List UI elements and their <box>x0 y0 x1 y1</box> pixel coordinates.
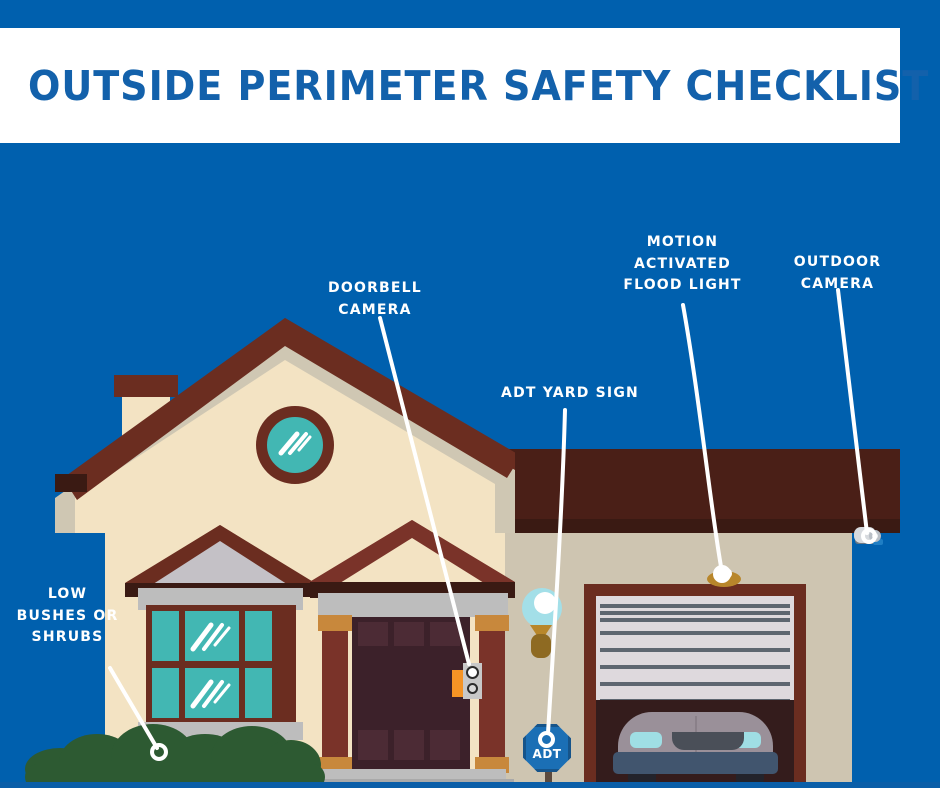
callout-leader-lines <box>0 0 940 788</box>
callout-label-flood-light: MOTION ACTIVATED FLOOD LIGHT <box>600 232 765 297</box>
callout-label-yard-sign: ADT YARD SIGN <box>495 383 645 405</box>
callout-label-bushes: LOW BUSHES OR SHRUBS <box>10 584 125 649</box>
infographic-canvas: OUTSIDE PERIMETER SAFETY CHECKLIST <box>0 0 940 788</box>
callout-label-doorbell-camera: DOORBELL CAMERA <box>305 278 445 321</box>
callout-label-outdoor-camera: OUTDOOR CAMERA <box>775 252 900 295</box>
